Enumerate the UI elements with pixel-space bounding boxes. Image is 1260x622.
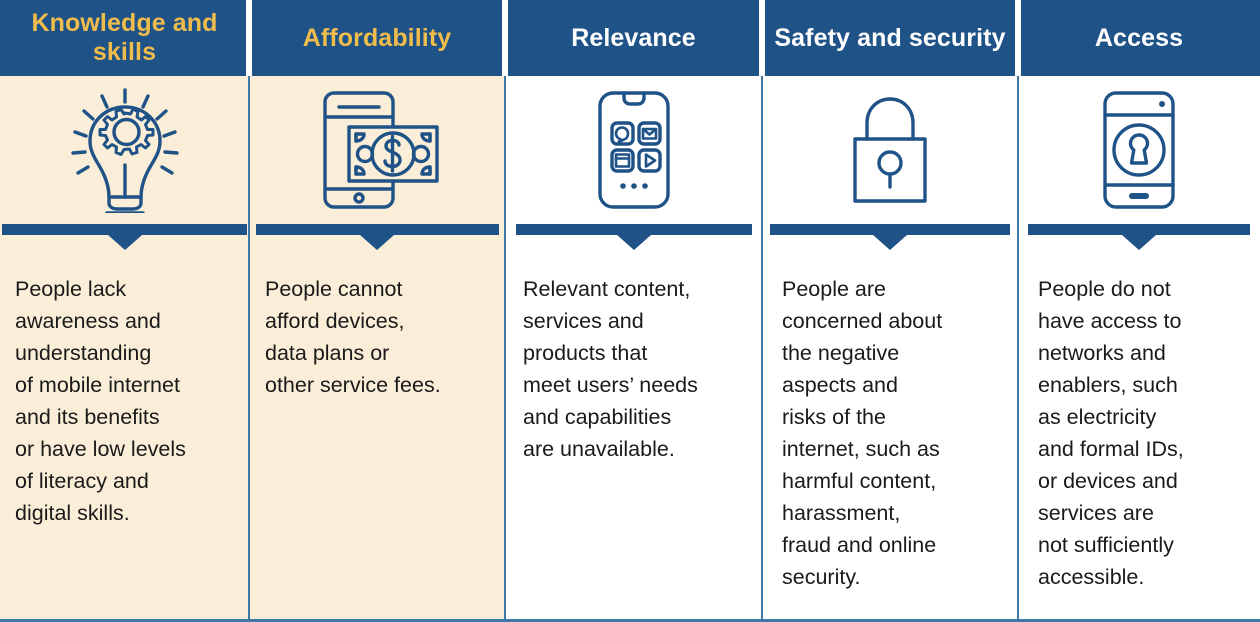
divider-bar xyxy=(516,224,752,235)
column-knowledge-and-skills: Knowledge and skills xyxy=(0,0,249,622)
divider-bar-wrap xyxy=(762,224,1018,252)
description-text: People are concerned about the negative … xyxy=(762,252,1018,593)
body-affordability: People cannot afford devices, data plans… xyxy=(249,76,505,622)
phone-banknote-dollar-icon xyxy=(313,89,441,211)
column-affordability: Affordability xyxy=(249,0,505,622)
description-text: People cannot afford devices, data plans… xyxy=(249,252,505,401)
header-gap-3 xyxy=(759,0,765,76)
chevron-down-icon xyxy=(108,235,142,250)
padlock-icon xyxy=(847,91,933,209)
header-gap-4 xyxy=(1015,0,1021,76)
barriers-infographic: Knowledge and skills xyxy=(0,0,1260,622)
header-title: Knowledge and skills xyxy=(10,9,239,67)
header-relevance: Relevance xyxy=(505,0,762,76)
phone-apps-icon xyxy=(596,89,672,211)
icon-area xyxy=(249,76,505,224)
chevron-down-icon xyxy=(360,235,394,250)
lightbulb-gear-icon xyxy=(69,87,181,213)
description-text: People lack awareness and understanding … xyxy=(0,252,249,529)
divider-bar-wrap xyxy=(249,224,505,252)
header-safety-and-security: Safety and security xyxy=(762,0,1018,76)
header-affordability: Affordability xyxy=(249,0,505,76)
header-gap-2 xyxy=(502,0,508,76)
divider-bar-wrap xyxy=(0,224,249,252)
divider-bar-wrap xyxy=(505,224,762,252)
column-safety-and-security: Safety and security xyxy=(762,0,1018,622)
chevron-down-icon xyxy=(873,235,907,250)
icon-area xyxy=(762,76,1018,224)
header-knowledge-and-skills: Knowledge and skills xyxy=(0,0,249,76)
header-access: Access xyxy=(1018,0,1260,76)
chevron-down-icon xyxy=(617,235,651,250)
columns-container: Knowledge and skills xyxy=(0,0,1260,622)
body-safety-and-security: People are concerned about the negative … xyxy=(762,76,1018,622)
header-gap-1 xyxy=(246,0,252,76)
divider-bar xyxy=(2,224,247,235)
icon-area xyxy=(505,76,762,224)
phone-keyhole-icon xyxy=(1101,89,1177,211)
header-title: Relevance xyxy=(571,24,696,53)
description-text: People do not have access to networks an… xyxy=(1018,252,1260,593)
header-title: Access xyxy=(1095,24,1183,53)
header-title: Affordability xyxy=(303,24,452,53)
column-relevance: Relevance xyxy=(505,0,762,622)
divider-bar xyxy=(770,224,1010,235)
column-access: Access xyxy=(1018,0,1260,622)
divider-bar xyxy=(1028,224,1250,235)
divider-bar xyxy=(256,224,499,235)
body-relevance: Relevant content, services and products … xyxy=(505,76,762,622)
divider-bar-wrap xyxy=(1018,224,1260,252)
header-title: Safety and security xyxy=(774,24,1005,53)
icon-area xyxy=(0,76,249,224)
body-knowledge-and-skills: People lack awareness and understanding … xyxy=(0,76,249,622)
body-access: People do not have access to networks an… xyxy=(1018,76,1260,622)
icon-area xyxy=(1018,76,1260,224)
chevron-down-icon xyxy=(1122,235,1156,250)
description-text: Relevant content, services and products … xyxy=(505,252,762,465)
